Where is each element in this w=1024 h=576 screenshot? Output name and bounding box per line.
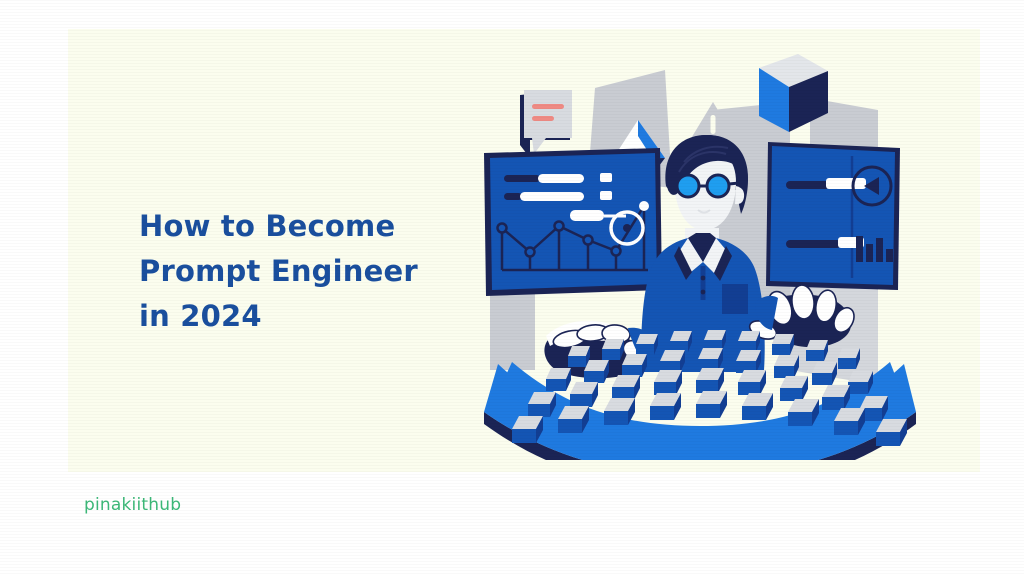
slide-screenshot: How to Become Prompt Engineer in 2024 (0, 0, 1024, 576)
brand-name: pinakiithub (84, 495, 181, 515)
footer-band: pinakiithub (0, 472, 1024, 576)
page-title: How to Become Prompt Engineer in 2024 (139, 204, 469, 339)
prompt-engineer-illustration (460, 40, 960, 460)
right-monitor (766, 142, 900, 290)
headline-line-2: Prompt Engineer (139, 249, 469, 294)
headline-line-1: How to Become (139, 204, 469, 249)
chat-bubble-icon (520, 90, 572, 158)
left-monitor (484, 148, 662, 296)
headline-line-3: in 2024 (139, 294, 469, 339)
